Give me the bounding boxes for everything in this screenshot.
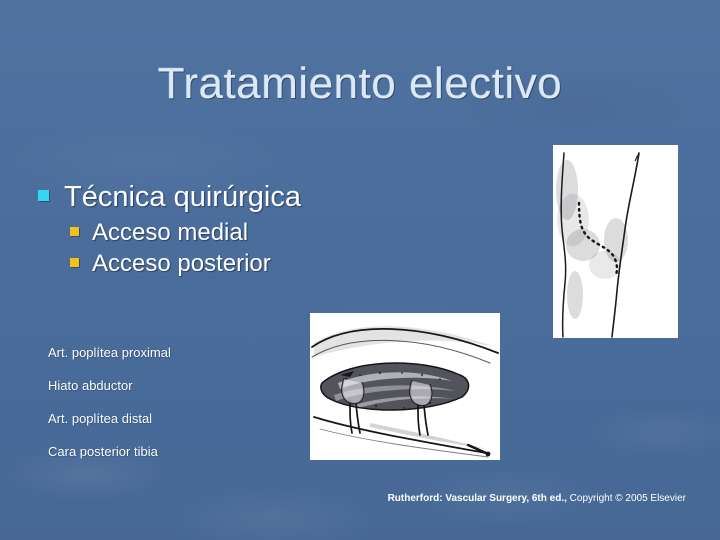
- presentation-slide: Tratamiento electivo Técnica quirúrgica …: [0, 0, 720, 540]
- bullet-item-label: Técnica quirúrgica: [64, 180, 301, 214]
- bullet-item-tecnica-quirurgica: Técnica quirúrgica: [38, 180, 498, 214]
- bullet-item-acceso-posterior: Acceso posterior: [70, 249, 498, 279]
- page-title: Tratamiento electivo: [0, 58, 720, 110]
- popliteal-exposure-illustration: [310, 313, 500, 460]
- caption-label: Art. poplítea proximal: [48, 345, 298, 361]
- bullet-item-label: Acceso posterior: [92, 249, 271, 279]
- leg-incision-drawing: [553, 145, 678, 338]
- bullet-item-label: Acceso medial: [92, 218, 248, 248]
- bullet-list: Técnica quirúrgica Acceso medial Acceso …: [38, 180, 498, 280]
- credit-source: Rutherford: Vascular Surgery, 6th ed.,: [388, 493, 567, 504]
- caption-label: Cara posterior tibia: [48, 444, 298, 460]
- leg-incision-diagram: [553, 145, 678, 338]
- bullet-item-acceso-medial: Acceso medial: [70, 218, 498, 248]
- popliteal-exposure-drawing: [310, 313, 500, 460]
- caption-label: Hiato abductor: [48, 378, 298, 394]
- credit-copyright: Copyright © 2005 Elsevier: [570, 493, 686, 504]
- anatomy-caption-list: Art. poplítea proximal Hiato abductor Ar…: [48, 345, 298, 477]
- gold-square-bullet-icon: [70, 258, 79, 267]
- source-credit: Rutherford: Vascular Surgery, 6th ed., C…: [0, 492, 720, 506]
- gold-square-bullet-icon: [70, 227, 79, 236]
- caption-label: Art. poplítea distal: [48, 411, 298, 427]
- cyan-square-bullet-icon: [38, 190, 49, 201]
